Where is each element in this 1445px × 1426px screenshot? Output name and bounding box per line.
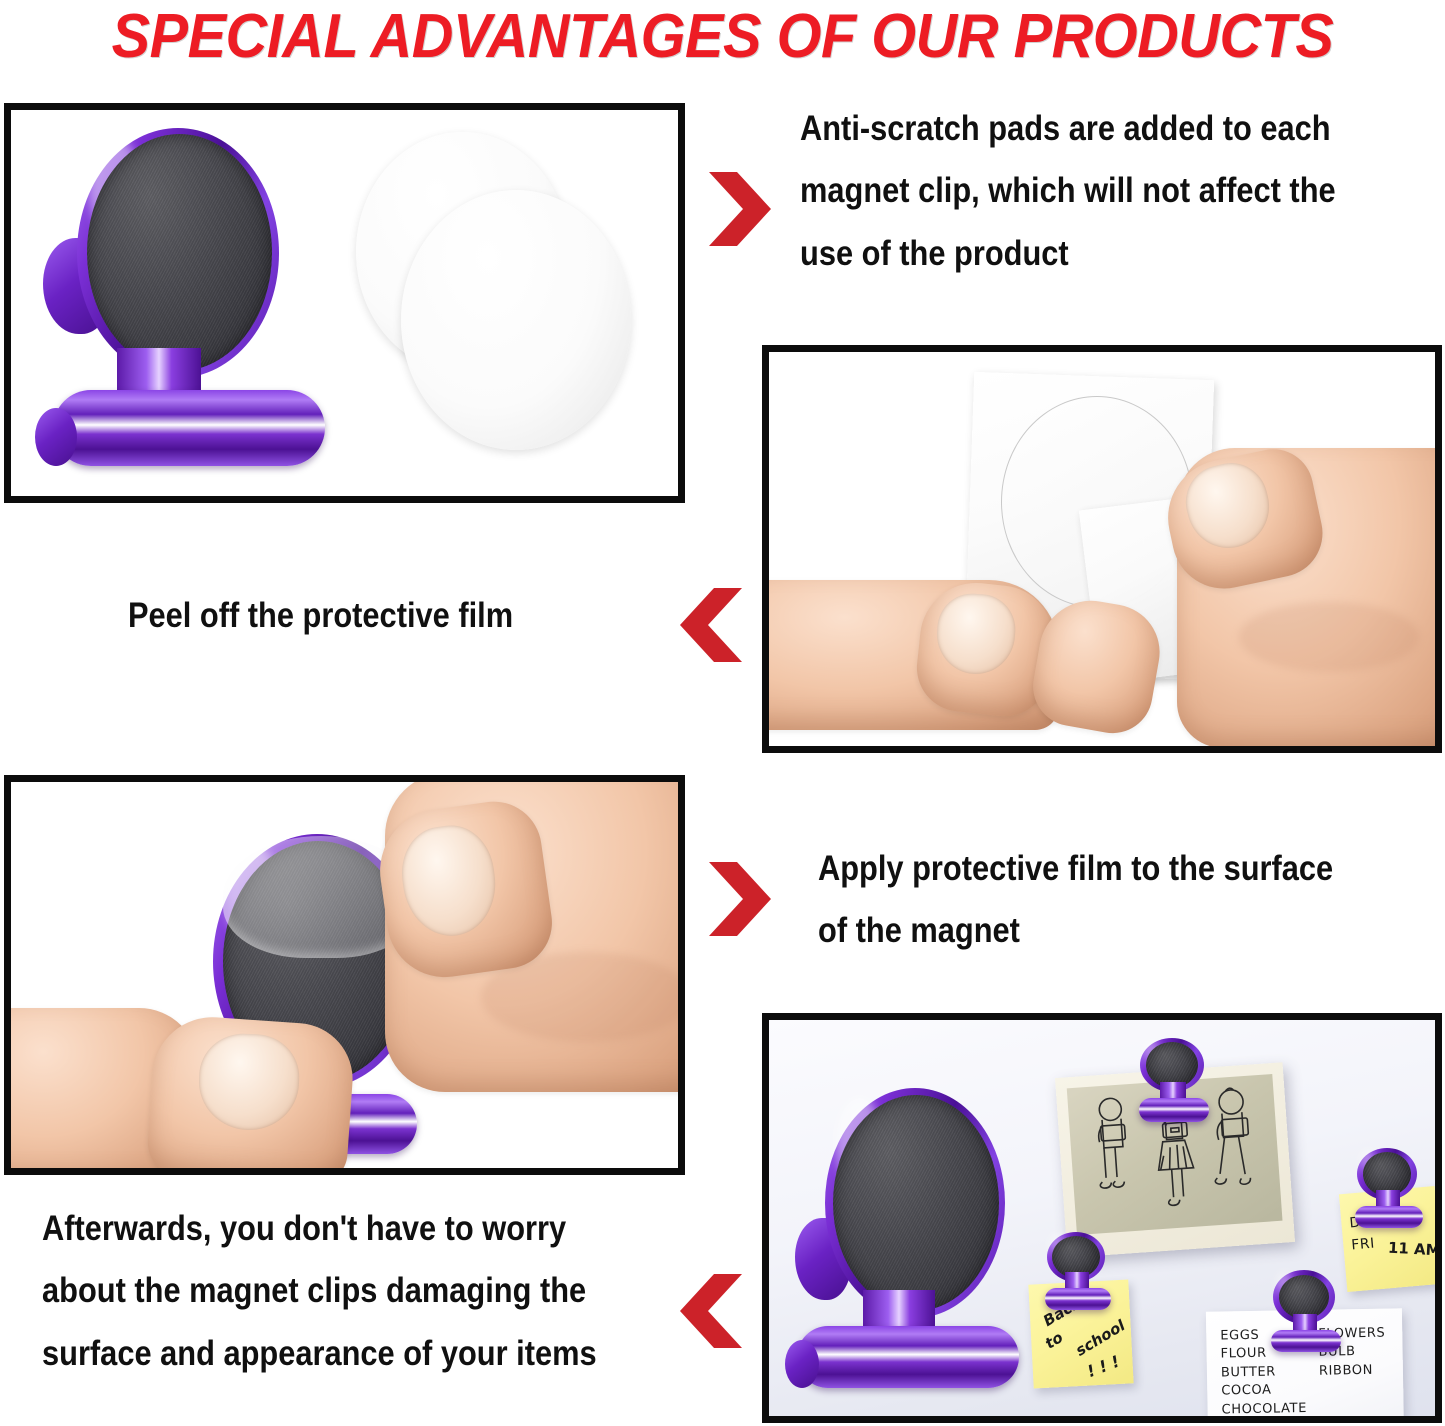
magnet-clip-polaroid: [1134, 1038, 1216, 1138]
photo-panel-step-4: Back to school ! ! ! DENTIST FRI 11 AM E…: [762, 1013, 1442, 1423]
right-hand-knuckle-shading: [1239, 602, 1419, 672]
caption-step-1-line-2: magnet clip, which will not affect the: [800, 160, 1363, 222]
clip-magnet-face: [87, 134, 272, 371]
sticky-dentist-line-3: 11 AM: [1388, 1239, 1442, 1260]
photo-panel-step-2: [762, 345, 1442, 753]
magnet-clip-shopping-list: [1267, 1270, 1347, 1364]
photo-panel-step-3: [4, 775, 685, 1175]
clip-barrel: [1045, 1288, 1111, 1310]
arrow-right-step-3: [703, 858, 775, 940]
photo-step-3-apply-film: [11, 782, 678, 1168]
clip-barrel-cap-icon: [785, 1340, 819, 1388]
clip-barrel: [53, 390, 325, 466]
photo-panel-step-1: [4, 103, 685, 503]
caption-step-2: Peel off the protective film: [128, 585, 621, 647]
anti-scratch-pad-front: [401, 190, 631, 450]
caption-step-1-line-1: Anti-scratch pads are added to each: [800, 98, 1363, 160]
magnet-clip-product: [29, 120, 359, 480]
clip-barrel: [1355, 1206, 1423, 1228]
clip-barrel: [1271, 1330, 1341, 1352]
clip-barrel: [797, 1326, 1019, 1388]
caption-step-2-line-1: Peel off the protective film: [128, 585, 621, 647]
sticky-school-line-2: to: [1042, 1328, 1066, 1352]
arrow-left-step-2: [676, 584, 748, 666]
magnet-clip-hero: [785, 1078, 1035, 1408]
sticky-school-line-4: ! ! !: [1084, 1352, 1122, 1382]
photo-step-1-clip-and-pads: [11, 110, 678, 496]
photo-step-2-peel-film: [769, 352, 1435, 746]
right-hand-shading: [481, 952, 685, 1042]
caption-step-4: Afterwards, you don't have to worry abou…: [42, 1198, 623, 1385]
magnet-clip-dentist-note: [1351, 1148, 1429, 1240]
clip-magnet-face: [833, 1095, 999, 1311]
caption-step-4-line-1: Afterwards, you don't have to worry: [42, 1198, 623, 1260]
caption-step-3-line-2: of the magnet: [818, 900, 1364, 962]
caption-step-3: Apply protective film to the surface of …: [818, 838, 1364, 963]
caption-step-4-line-2: about the magnet clips damaging the: [42, 1260, 623, 1322]
arrow-left-step-4: [676, 1270, 748, 1352]
clip-barrel: [1139, 1098, 1209, 1122]
caption-step-4-line-3: surface and appearance of your items: [42, 1323, 623, 1385]
arrow-right-step-1: [703, 168, 775, 250]
caption-step-1: Anti-scratch pads are added to each magn…: [800, 98, 1363, 285]
photo-step-4-fridge-scene: Back to school ! ! ! DENTIST FRI 11 AM E…: [769, 1020, 1435, 1416]
caption-step-3-line-1: Apply protective film to the surface: [818, 838, 1364, 900]
clip-barrel-cap-icon: [35, 408, 77, 466]
caption-step-1-line-3: use of the product: [800, 223, 1363, 285]
clip-magnet-face: [1279, 1275, 1329, 1319]
page-title: SPECIAL ADVANTAGES OF OUR PRODUCTS: [51, 2, 1395, 72]
magnet-clip-school-note: [1041, 1232, 1117, 1324]
